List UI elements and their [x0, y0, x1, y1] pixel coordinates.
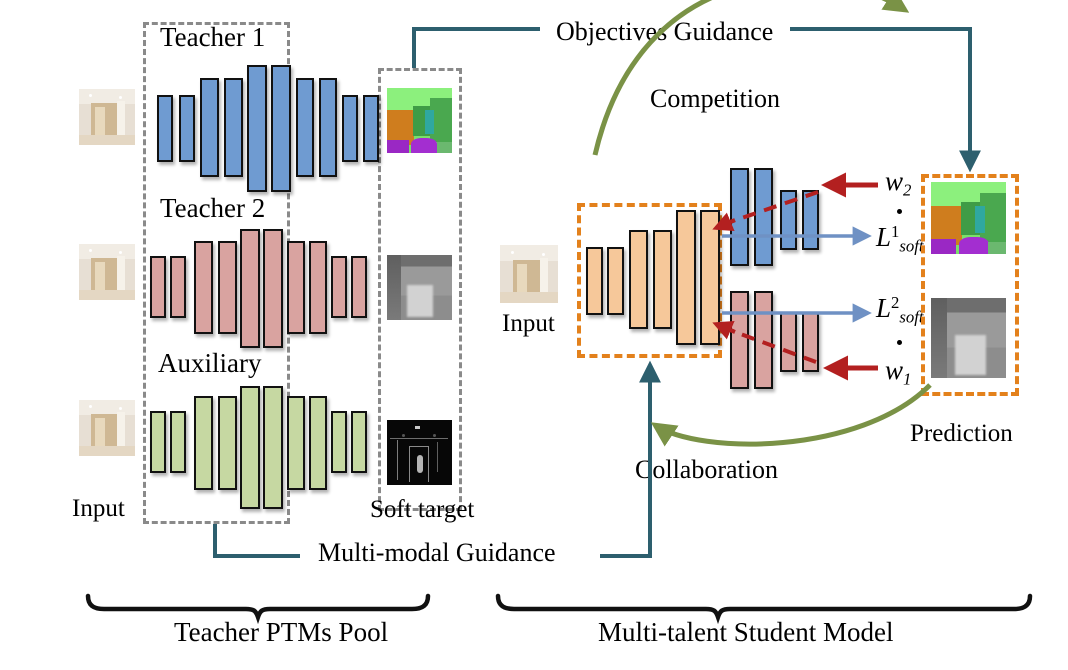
student-encoder-block-3	[629, 230, 648, 329]
input-thumbnail-teacher2	[79, 244, 135, 300]
input-label-left: Input	[72, 495, 125, 523]
teacher2-block-3	[194, 241, 213, 334]
student-branch2-block-4	[802, 312, 819, 372]
prediction-depth	[931, 298, 1006, 378]
teacher-1-label: Teacher 1	[160, 22, 265, 53]
input-label-right: Input	[502, 310, 555, 338]
teacher1-block-1	[157, 95, 173, 162]
teacher1-block-10	[363, 95, 379, 162]
auxiliary-block-5	[240, 386, 260, 509]
input-thumbnail-student	[500, 245, 558, 303]
student-encoder-block-4	[653, 230, 672, 329]
teacher2-block-9	[331, 256, 347, 318]
teacher1-block-5	[247, 65, 267, 192]
competition-label: Competition	[650, 84, 780, 114]
soft-target-label: Soft target	[370, 496, 474, 524]
teacher2-block-2	[170, 256, 186, 318]
loss-symbol-L2: L	[876, 293, 891, 323]
teacher2-block-4	[218, 241, 237, 334]
collaboration-label: Collaboration	[635, 455, 778, 485]
auxiliary-block-7	[287, 396, 305, 490]
weight-label-branch2: w1	[885, 355, 911, 389]
loss-subscript-soft-2: soft	[899, 308, 923, 327]
prediction-label: Prediction	[910, 420, 1013, 448]
soft-target-edge	[387, 420, 452, 485]
teacher1-block-9	[342, 95, 358, 162]
auxiliary-block-1	[150, 411, 166, 473]
teacher2-block-10	[351, 256, 367, 318]
teacher1-block-8	[319, 78, 337, 177]
student-encoder-block-6	[700, 210, 720, 345]
student-bracket-label: Multi-talent Student Model	[598, 617, 893, 648]
loss-label-branch1: L1soft	[876, 222, 924, 257]
weight-subscript-2: 2	[903, 180, 911, 199]
objectives-guidance-label: Objectives Guidance	[556, 17, 773, 47]
teacher2-block-5	[240, 229, 260, 348]
auxiliary-block-4	[218, 396, 237, 490]
student-encoder-block-1	[586, 247, 603, 315]
multiply-dot-branch1	[897, 209, 902, 214]
teacher1-block-6	[271, 65, 291, 192]
student-encoder-block-5	[676, 210, 696, 345]
multimodal-guidance-label: Multi-modal Guidance	[318, 538, 556, 568]
student-branch2-block-3	[780, 312, 797, 372]
teacher2-block-1	[150, 256, 166, 318]
student-branch1-block-2	[754, 168, 773, 266]
teacher-pool-bracket-label: Teacher PTMs Pool	[174, 617, 388, 648]
teacher1-block-7	[296, 78, 314, 177]
weight-subscript-1: 1	[903, 369, 911, 388]
student-encoder-block-2	[607, 247, 624, 315]
student-branch1-block-4	[802, 190, 819, 250]
soft-target-segmentation	[387, 88, 452, 153]
loss-label-branch2: L2soft	[876, 293, 924, 328]
auxiliary-block-3	[194, 396, 213, 490]
auxiliary-block-9	[331, 411, 347, 473]
teacher1-block-2	[179, 95, 195, 162]
auxiliary-block-6	[263, 386, 283, 509]
student-model-brace	[498, 596, 1030, 617]
student-branch2-block-1	[730, 291, 749, 389]
teacher-pool-brace	[88, 596, 428, 617]
weight-symbol-w1: w	[885, 355, 903, 385]
auxiliary-block-8	[309, 396, 327, 490]
prediction-segmentation	[931, 182, 1006, 254]
multiply-dot-branch2	[897, 340, 902, 345]
student-branch1-block-3	[780, 190, 797, 250]
teacher2-block-8	[309, 241, 327, 334]
auxiliary-label: Auxiliary	[158, 348, 261, 379]
teacher-2-label: Teacher 2	[160, 193, 265, 224]
auxiliary-block-2	[170, 411, 186, 473]
loss-symbol-L1: L	[876, 222, 891, 252]
soft-target-depth	[387, 255, 452, 320]
collaboration-arrow	[655, 385, 930, 444]
loss-subscript-soft-1: soft	[899, 237, 923, 256]
student-branch1-block-1	[730, 168, 749, 266]
weight-symbol-w2: w	[885, 166, 903, 196]
teacher1-block-3	[200, 78, 219, 177]
teacher2-block-7	[287, 241, 305, 334]
teacher1-block-4	[224, 78, 243, 177]
student-branch2-block-2	[754, 291, 773, 389]
auxiliary-block-10	[351, 411, 367, 473]
teacher2-block-6	[263, 229, 283, 348]
input-thumbnail-auxiliary	[79, 400, 135, 456]
weight-label-branch1: w2	[885, 166, 911, 200]
input-thumbnail-teacher1	[79, 89, 135, 145]
figure-canvas: Input Teacher 1 Teacher 2 Auxiliary	[0, 0, 1068, 670]
